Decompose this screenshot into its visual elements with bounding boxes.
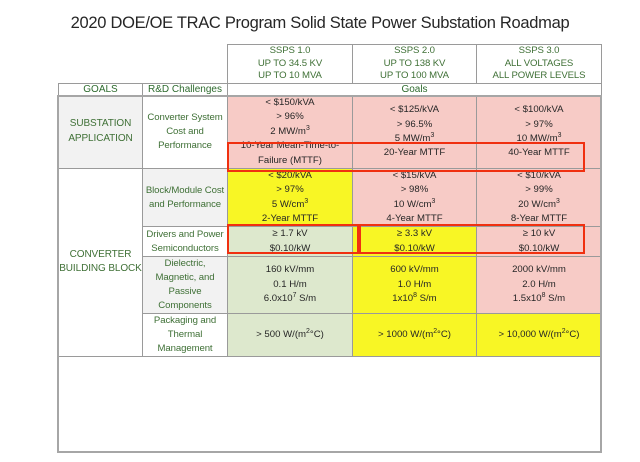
header-blank-corner-2 [143,45,228,84]
value-line: < $100/kVA [477,103,601,117]
value-line: > 1000 W/(m2°C) [353,328,476,342]
table-header-row-goals: GOALS R&D Challenges Goals [59,83,602,95]
cell-drivers-ssps3: ≥ 10 kV $0.10/kW [477,227,602,257]
value-line: 2.0 H/m [477,278,601,292]
value-line: > 96% [228,110,352,124]
value-line: 5 MW/m3 [353,132,476,146]
value-line: $0.10/kW [477,242,601,256]
ssps3-power: ALL POWER LEVELS [477,70,601,83]
challenge-drivers-power-semiconductors: Drivers and Power Semiconductors [143,227,228,257]
ssps3-name: SSPS 3.0 [477,45,601,58]
column-header-ssps2: SSPS 2.0 UP TO 138 KV UP TO 100 MVA [353,45,477,84]
cell-block-module-ssps1: < $20/kVA > 97% 5 W/cm3 2-Year MTTF [228,168,353,227]
column-header-ssps3: SSPS 3.0 ALL VOLTAGES ALL POWER LEVELS [477,45,602,84]
value-line: > 10,000 W/(m2°C) [477,328,601,342]
cell-packaging-ssps1: > 500 W/(m2°C) [228,313,353,356]
cell-converter-system-ssps1: < $150/kVA > 96% 2 MW/m3 10-Year Mean-Ti… [228,95,353,168]
value-line: 600 kV/mm [353,263,476,277]
header-rnd-challenges: R&D Challenges [143,83,228,95]
value-line: ≥ 3.3 kV [353,227,476,241]
cell-block-module-ssps2: < $15/kVA > 98% 10 W/cm3 4-Year MTTF [353,168,477,227]
value-line: 20-Year MTTF [353,146,476,160]
value-line: 160 kV/mm [228,263,352,277]
cell-packaging-ssps3: > 10,000 W/(m2°C) [477,313,602,356]
cell-converter-system-ssps3: < $100/kVA > 97% 10 MW/m3 40-Year MTTF [477,95,602,168]
value-line: 10 W/cm3 [353,198,476,212]
value-line: > 97% [477,118,601,132]
value-line: $0.10/kW [353,242,476,256]
value-line: 10 MW/m3 [477,132,601,146]
group-label-converter-building-block: CONVERTER BUILDING BLOCK [59,168,143,356]
cell-dielectric-ssps2: 600 kV/mm 1.0 H/m 1x108 S/m [353,257,477,314]
value-line: > 99% [477,183,601,197]
value-line: 5 W/cm3 [228,198,352,212]
value-line: 8-Year MTTF [477,212,601,226]
page-title: 2020 DOE/OE TRAC Program Solid State Pow… [0,14,640,33]
challenge-dielectric-magnetic-passive: Dielectric, Magnetic, and Passive Compon… [143,257,228,314]
value-line: $0.10/kW [228,242,352,256]
value-line: 4-Year MTTF [353,212,476,226]
value-line: 20 W/cm3 [477,198,601,212]
value-line: 1.5x108 S/m [477,292,601,306]
ssps3-voltage: ALL VOLTAGES [477,58,601,71]
value-line: 1x108 S/m [353,292,476,306]
table-row-converter-system: SUBSTATION APPLICATION Converter System … [59,95,602,168]
value-line: 6.0x107 S/m [228,292,352,306]
value-line: > 96.5% [353,118,476,132]
ssps1-name: SSPS 1.0 [228,45,352,58]
cell-dielectric-ssps3: 2000 kV/mm 2.0 H/m 1.5x108 S/m [477,257,602,314]
ssps1-power: UP TO 10 MVA [228,70,352,83]
value-line: > 97% [228,183,352,197]
value-line: > 500 W/(m2°C) [228,328,352,342]
value-line: 10-Year Mean-Time-to-Failure (MTTF) [228,139,352,168]
challenge-converter-system: Converter System Cost and Performance [143,95,228,168]
value-line: 2 MW/m3 [228,125,352,139]
roadmap-table: SSPS 1.0 UP TO 34.5 KV UP TO 10 MVA SSPS… [58,44,602,357]
value-line: < $10/kVA [477,169,601,183]
ssps2-power: UP TO 100 MVA [353,70,476,83]
header-goals-span: Goals [228,83,602,95]
table-row-block-module: CONVERTER BUILDING BLOCK Block/Module Co… [59,168,602,227]
value-line: 1.0 H/m [353,278,476,292]
challenge-packaging-thermal: Packaging and Thermal Management [143,313,228,356]
cell-packaging-ssps2: > 1000 W/(m2°C) [353,313,477,356]
value-line: < $150/kVA [228,96,352,110]
cell-block-module-ssps3: < $10/kVA > 99% 20 W/cm3 8-Year MTTF [477,168,602,227]
column-header-ssps1: SSPS 1.0 UP TO 34.5 KV UP TO 10 MVA [228,45,353,84]
value-line: < $20/kVA [228,169,352,183]
value-line: 2-Year MTTF [228,212,352,226]
table-header-row-ssps: SSPS 1.0 UP TO 34.5 KV UP TO 10 MVA SSPS… [59,45,602,84]
value-line: < $15/kVA [353,169,476,183]
cell-drivers-ssps2: ≥ 3.3 kV $0.10/kW [353,227,477,257]
group-label-substation-application: SUBSTATION APPLICATION [59,95,143,168]
value-line: < $125/kVA [353,103,476,117]
ssps1-voltage: UP TO 34.5 KV [228,58,352,71]
value-line: 0.1 H/m [228,278,352,292]
header-blank-corner-1 [59,45,143,84]
cell-dielectric-ssps1: 160 kV/mm 0.1 H/m 6.0x107 S/m [228,257,353,314]
challenge-block-module: Block/Module Cost and Performance [143,168,228,227]
value-line: 2000 kV/mm [477,263,601,277]
ssps2-voltage: UP TO 138 KV [353,58,476,71]
value-line: > 98% [353,183,476,197]
ssps2-name: SSPS 2.0 [353,45,476,58]
cell-drivers-ssps1: ≥ 1.7 kV $0.10/kW [228,227,353,257]
roadmap-page: 2020 DOE/OE TRAC Program Solid State Pow… [0,0,640,462]
cell-converter-system-ssps2: < $125/kVA > 96.5% 5 MW/m3 20-Year MTTF [353,95,477,168]
value-line: 40-Year MTTF [477,146,601,160]
value-line: ≥ 1.7 kV [228,227,352,241]
header-goals: GOALS [59,83,143,95]
value-line: ≥ 10 kV [477,227,601,241]
